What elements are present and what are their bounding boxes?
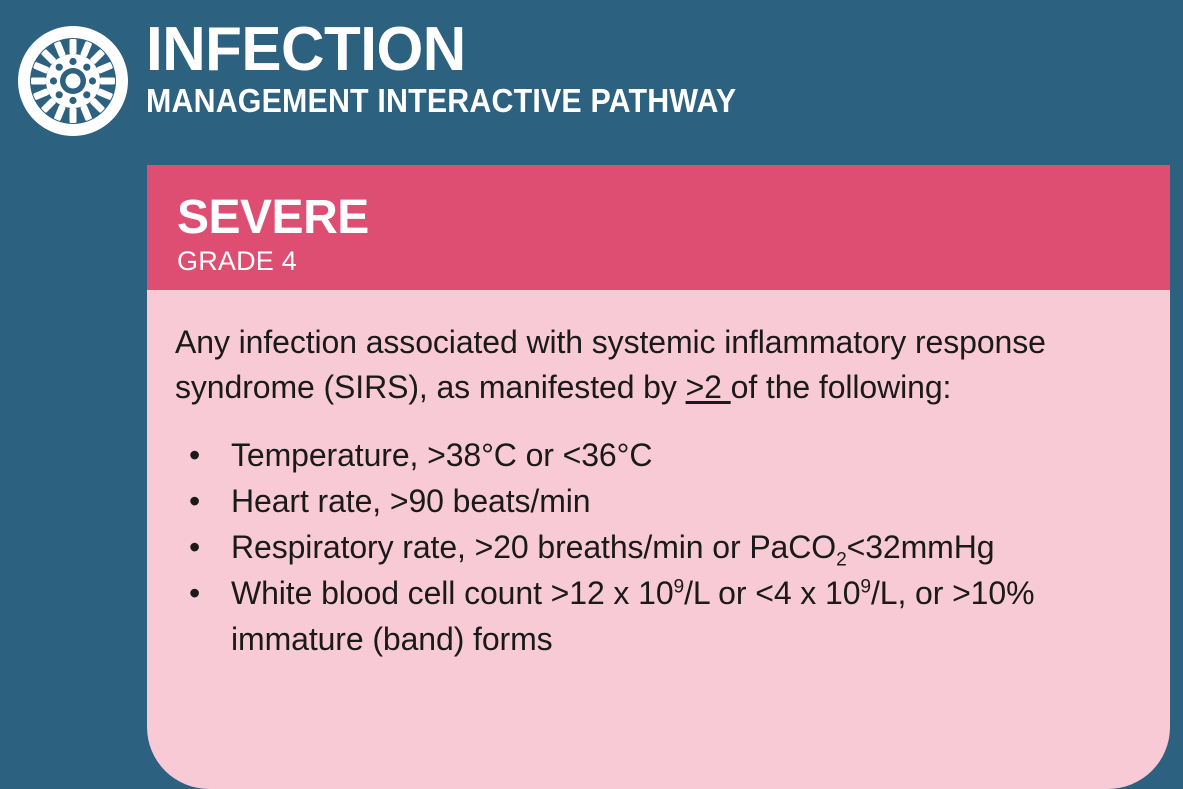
severity-card-body: Any infection associated with systemic i…	[147, 290, 1170, 662]
intro-part-2: of the following:	[731, 369, 952, 405]
severity-level-title: SEVERE	[177, 193, 1170, 243]
brand-header: INFECTION MANAGEMENT INTERACTIVE PATHWAY	[0, 0, 1183, 150]
criteria-item-text: Heart rate, >90 beats/min	[231, 483, 590, 519]
criteria-segment: 9	[674, 576, 685, 597]
bullet-icon: •	[189, 478, 200, 524]
criteria-segment: 2	[836, 549, 847, 570]
criteria-segment: /L or <4 x 10	[684, 575, 860, 611]
criteria-item-text: Temperature, >38°C or <36°C	[231, 437, 652, 473]
criteria-list-item: •Temperature, >38°C or <36°C	[175, 432, 1142, 478]
brand-wordmark: INFECTION MANAGEMENT INTERACTIVE PATHWAY	[146, 18, 788, 119]
criteria-segment: 9	[860, 576, 871, 597]
criteria-intro-text: Any infection associated with systemic i…	[175, 320, 1142, 410]
criteria-item-text: White blood cell count >12 x 109/L or <4…	[231, 575, 1034, 657]
criteria-list-item: •Heart rate, >90 beats/min	[175, 478, 1142, 524]
criteria-list-item: •Respiratory rate, >20 breaths/min or Pa…	[175, 524, 1142, 570]
criteria-segment: White blood cell count >12 x 10	[231, 575, 674, 611]
criteria-segment: Heart rate, >90 beats/min	[231, 483, 590, 519]
virus-microbe-icon	[14, 22, 132, 140]
criteria-segment: Respiratory rate, >20 breaths/min or PaC…	[231, 529, 836, 565]
brand-subtitle: MANAGEMENT INTERACTIVE PATHWAY	[146, 83, 736, 119]
severity-grade-label: GRADE 4	[177, 246, 1170, 276]
sirs-criteria-list: •Temperature, >38°C or <36°C•Heart rate,…	[175, 432, 1142, 662]
intro-emphasis-threshold: >2	[686, 369, 731, 405]
criteria-list-item: •White blood cell count >12 x 109/L or <…	[175, 570, 1142, 662]
criteria-segment: <32mmHg	[847, 529, 995, 565]
severity-card-header: SEVERE GRADE 4	[147, 165, 1170, 290]
page-root: INFECTION MANAGEMENT INTERACTIVE PATHWAY…	[0, 0, 1183, 789]
bullet-icon: •	[189, 432, 200, 478]
bullet-icon: •	[189, 524, 200, 570]
brand-title: INFECTION	[146, 18, 768, 82]
criteria-segment: Temperature, >38°C or <36°C	[231, 437, 652, 473]
severity-card: SEVERE GRADE 4 Any infection associated …	[147, 165, 1170, 789]
bullet-icon: •	[189, 570, 200, 616]
criteria-item-text: Respiratory rate, >20 breaths/min or PaC…	[231, 529, 994, 565]
